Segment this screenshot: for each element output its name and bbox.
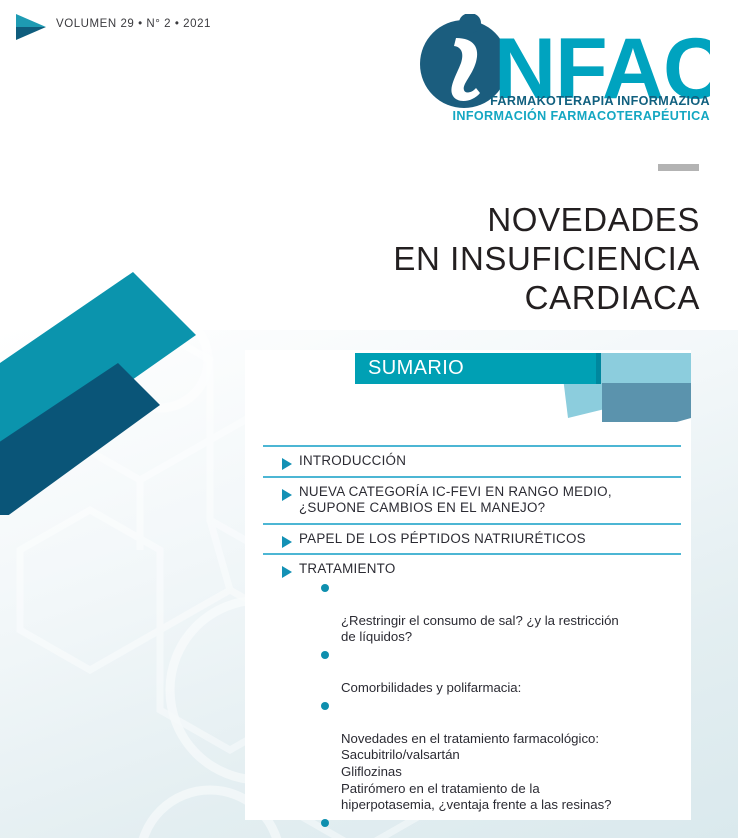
bullet-dot-icon: [321, 651, 329, 659]
chevron-right-icon: [282, 566, 292, 578]
chevron-right-icon: [282, 536, 292, 548]
toc-entry-tratamiento[interactable]: TRATAMIENTO ¿Restringir el consumo de sa…: [263, 555, 681, 838]
chevron-right-icon: [282, 489, 292, 501]
toc-entry-label: TRATAMIENTO: [299, 561, 681, 578]
document-page: VOLUMEN 29 • N° 2 • 2021 NFAC FARMAKOTER…: [0, 0, 738, 838]
list-item-label: Comorbilidades y polifarmacia:: [341, 680, 521, 695]
list-item[interactable]: ¿Restringir el consumo de sal? ¿y la res…: [299, 580, 681, 646]
sumario-heading: SUMARIO: [368, 357, 464, 380]
sumario-header-bar: SUMARIO: [355, 353, 596, 384]
bullet-dot-icon: [321, 819, 329, 827]
volume-label: VOLUMEN 29 • N° 2 • 2021: [56, 18, 211, 30]
toc-entry-peptidos[interactable]: PAPEL DE LOS PÉPTIDOS NATRIURÉTICOS: [263, 525, 681, 554]
bullet-dot-icon: [321, 584, 329, 592]
page-title-line-3: CARDIACA: [140, 278, 700, 317]
toc-entry-label: PAPEL DE LOS PÉPTIDOS NATRIURÉTICOS: [299, 531, 681, 548]
page-title-line-2: EN INSUFICIENCIA: [140, 239, 700, 278]
sumario-card: SUMARIO INTRODUCCIÓN NUEVA CATEGORÍA IC-…: [245, 350, 691, 820]
toc-subitems: ¿Restringir el consumo de sal? ¿y la res…: [299, 580, 681, 838]
list-item-label: Novedades en el tratamiento farmacológic…: [341, 731, 612, 812]
page-title-line-1: NOVEDADES: [140, 200, 700, 239]
list-item[interactable]: Novedades en el tratamiento farmacológic…: [299, 698, 681, 814]
page-title: NOVEDADES EN INSUFICIENCIA CARDIACA: [140, 200, 700, 317]
play-triangle-icon: [14, 13, 48, 41]
logo-subtitle-basque: FARMAKOTERAPIA INFORMAZIOA: [418, 94, 710, 108]
chevron-right-icon: [282, 458, 292, 470]
toc-entry-nueva-categoria[interactable]: NUEVA CATEGORÍA IC-FEVI EN RANGO MEDIO, …: [263, 478, 681, 523]
toc-entry-label: INTRODUCCIÓN: [299, 453, 681, 470]
title-dash: [658, 164, 699, 171]
toc-entry-label: NUEVA CATEGORÍA IC-FEVI EN RANGO MEDIO, …: [299, 484, 681, 517]
toc-entry-introduccion[interactable]: INTRODUCCIÓN: [263, 447, 681, 476]
bullet-dot-icon: [321, 702, 329, 710]
table-of-contents: INTRODUCCIÓN NUEVA CATEGORÍA IC-FEVI EN …: [263, 445, 681, 838]
list-item[interactable]: Manejo de las descompensaciones: Diuréti…: [299, 815, 681, 838]
list-item-label: ¿Restringir el consumo de sal? ¿y la res…: [341, 613, 619, 645]
logo-subtitle-spanish: INFORMACIÓN FARMACOTERAPÉUTICA: [400, 109, 710, 123]
list-item[interactable]: Comorbilidades y polifarmacia:: [299, 647, 681, 697]
